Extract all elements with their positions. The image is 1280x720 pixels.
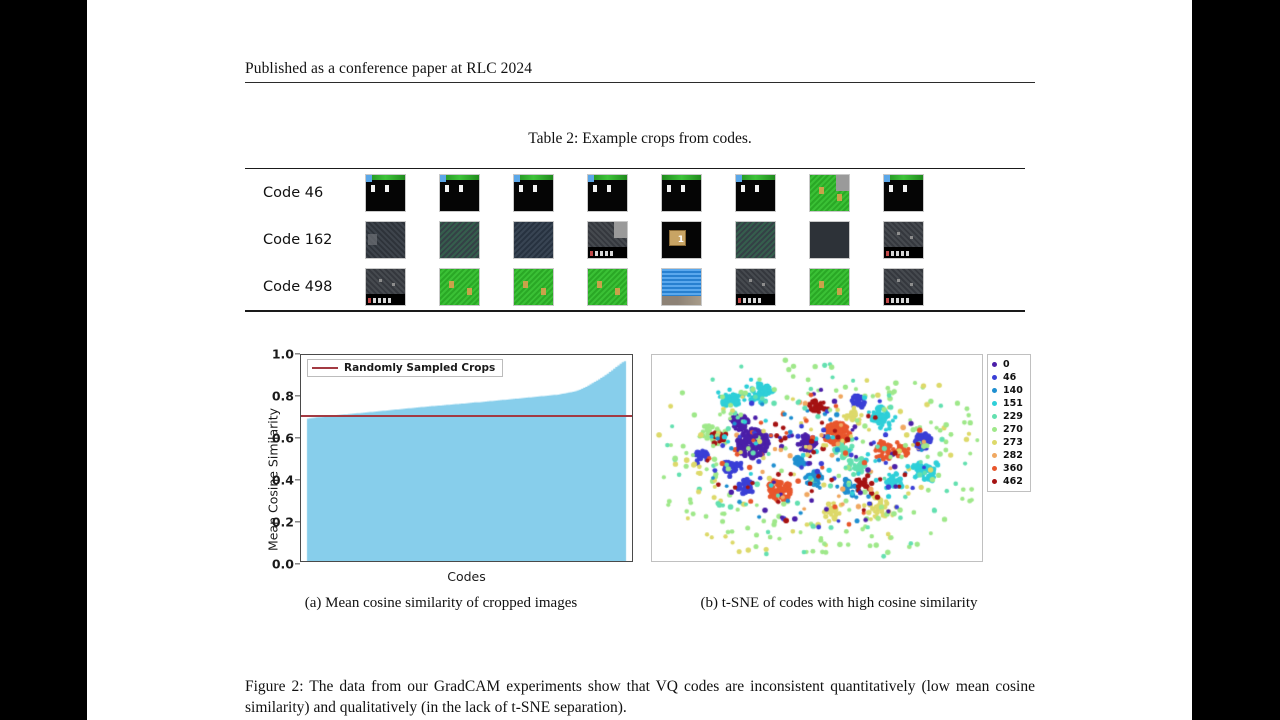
texture-dot xyxy=(379,279,382,282)
sprite-glyphs xyxy=(593,182,614,192)
legend-color-dot xyxy=(992,453,997,458)
hud-bar xyxy=(588,247,627,258)
crop-thumbnail xyxy=(439,174,480,212)
sprite-glyphs xyxy=(445,182,466,192)
texture-dot xyxy=(910,283,913,286)
y-axis-label: Mean Cosine Similarity xyxy=(266,379,281,579)
legend-color-dot xyxy=(992,388,997,393)
crop-thumbnail xyxy=(661,268,702,306)
hud-bar xyxy=(736,294,775,305)
legend-item-label: 462 xyxy=(1003,476,1023,487)
crop-thumbnail xyxy=(439,221,480,259)
legend-color-dot xyxy=(992,466,997,471)
hud-bar xyxy=(366,294,405,305)
texture-dot xyxy=(749,279,752,282)
crop-cells xyxy=(357,174,1025,212)
running-header: Published as a conference paper at RLC 2… xyxy=(245,60,1035,83)
crop-cells xyxy=(357,268,1025,306)
table-row: Code 46 xyxy=(245,169,1025,216)
sand-overlay xyxy=(662,296,701,305)
crop-thumbnail xyxy=(365,221,406,259)
hud-items xyxy=(886,251,909,256)
table-row-label: Code 498 xyxy=(245,279,357,295)
hud-items xyxy=(590,251,613,256)
crop-thumbnail xyxy=(883,174,924,212)
sprite-glyphs xyxy=(889,182,910,192)
legend-color-dot xyxy=(992,401,997,406)
sapling-sprite xyxy=(523,281,528,288)
sprite-glyphs xyxy=(667,182,688,192)
texture-dot xyxy=(392,283,395,286)
legend-color-dot xyxy=(992,427,997,432)
legend-item-label: 46 xyxy=(1003,372,1016,383)
crop-thumbnail xyxy=(587,268,628,306)
legend-label: Randomly Sampled Crops xyxy=(344,362,495,374)
legend-color-dot xyxy=(992,375,997,380)
legend-item: 140 xyxy=(992,384,1027,397)
y-tick-label: 1.0 xyxy=(272,347,294,362)
legend-item-label: 229 xyxy=(1003,411,1023,422)
sapling-sprite xyxy=(837,288,842,295)
crops-table: Code 46Code 162Code 498 xyxy=(245,168,1025,312)
texture-dot xyxy=(897,279,900,282)
tsne-scatter-canvas xyxy=(652,355,982,561)
area-chart-canvas xyxy=(301,355,632,561)
table-caption: Table 2: Example crops from codes. xyxy=(245,130,1035,148)
bluetop-overlay xyxy=(588,175,594,182)
sapling-sprite xyxy=(597,281,602,288)
legend-item: 270 xyxy=(992,423,1027,436)
figure-caption: Figure 2: The data from our GradCAM expe… xyxy=(245,676,1035,719)
subcaption-a: (a) Mean cosine similarity of cropped im… xyxy=(245,595,637,612)
hud-bar xyxy=(884,247,923,258)
legend-item-label: 273 xyxy=(1003,437,1023,448)
legend-item: 0 xyxy=(992,358,1027,371)
legend-item-label: 270 xyxy=(1003,424,1023,435)
sprite-glyphs xyxy=(371,182,392,192)
legend-item-label: 140 xyxy=(1003,385,1023,396)
legend-item: 282 xyxy=(992,449,1027,462)
crop-thumbnail xyxy=(809,221,850,259)
sprite-glyphs xyxy=(741,182,762,192)
crop-cells xyxy=(357,221,1025,259)
header-rule xyxy=(245,82,1035,83)
texture-dot xyxy=(910,236,913,239)
legend-color-dot xyxy=(992,440,997,445)
crop-thumbnail xyxy=(661,221,702,259)
crop-thumbnail xyxy=(513,221,554,259)
crop-thumbnail xyxy=(735,174,776,212)
crop-thumbnail xyxy=(883,268,924,306)
sapling-sprite xyxy=(541,288,546,295)
plot-area-a: Randomly Sampled Crops xyxy=(300,354,633,562)
figure-row: 0.00.20.40.60.81.0 Mean Cosine Similarit… xyxy=(245,352,1035,622)
subcaption-b: (b) t-SNE of codes with high cosine simi… xyxy=(643,595,1035,612)
texture-dot xyxy=(897,232,900,235)
legend-color-dot xyxy=(992,414,997,419)
hud-items xyxy=(886,298,909,303)
crop-thumbnail xyxy=(439,268,480,306)
paper-page: Published as a conference paper at RLC 2… xyxy=(87,0,1192,720)
bluetop-overlay xyxy=(440,175,446,182)
sapling-sprite xyxy=(819,281,824,288)
crop-thumbnail xyxy=(587,174,628,212)
texture-dot xyxy=(762,283,765,286)
crop-thumbnail xyxy=(365,174,406,212)
chart-legend-a: Randomly Sampled Crops xyxy=(307,359,503,377)
bluetop-overlay xyxy=(884,175,890,182)
figure-b-tsne: 046140151229270273282360462 (b) t-SNE of… xyxy=(643,352,1035,618)
stonepatch-overlay xyxy=(836,175,849,191)
sapling-sprite xyxy=(837,194,842,201)
y-tick-mark xyxy=(295,563,300,564)
crop-thumbnail xyxy=(513,268,554,306)
screenshot-stage: Published as a conference paper at RLC 2… xyxy=(0,0,1280,720)
sprite-glyphs xyxy=(519,182,540,192)
plot-area-b xyxy=(651,354,983,562)
sapling-sprite xyxy=(615,288,620,295)
hud-bar xyxy=(884,294,923,305)
x-axis-label: Codes xyxy=(300,569,633,584)
bluetop-overlay xyxy=(514,175,520,182)
legend-item: 46 xyxy=(992,371,1027,384)
legend-color-dot xyxy=(992,479,997,484)
legend-item-label: 360 xyxy=(1003,463,1023,474)
table-row: Code 498 xyxy=(245,263,1025,310)
crop-thumbnail xyxy=(735,268,776,306)
reference-line xyxy=(301,415,632,417)
table-row: Code 162 xyxy=(245,216,1025,263)
crop-thumbnail xyxy=(735,221,776,259)
legend-item-label: 0 xyxy=(1003,359,1010,370)
legend-item: 151 xyxy=(992,397,1027,410)
greentop-overlay xyxy=(662,175,701,180)
stonepatch-overlay xyxy=(614,222,627,238)
crop-thumbnail xyxy=(661,174,702,212)
legend-item-label: 151 xyxy=(1003,398,1023,409)
legend-item: 229 xyxy=(992,410,1027,423)
chart-legend-b: 046140151229270273282360462 xyxy=(987,354,1031,492)
table-row-label: Code 46 xyxy=(245,185,357,201)
sapling-sprite xyxy=(819,187,824,194)
chest-overlay xyxy=(669,230,686,246)
legend-item: 462 xyxy=(992,475,1027,488)
legend-color-dot xyxy=(992,362,997,367)
legend-line-swatch xyxy=(312,367,338,370)
bluetop-overlay xyxy=(736,175,742,182)
crop-thumbnail xyxy=(587,221,628,259)
hud-items xyxy=(368,298,391,303)
hud-items xyxy=(738,298,761,303)
table-rule-bottom xyxy=(245,310,1025,312)
lgray-overlay xyxy=(368,234,377,245)
legend-item-label: 282 xyxy=(1003,450,1023,461)
crop-thumbnail xyxy=(513,174,554,212)
crop-thumbnail xyxy=(809,268,850,306)
legend-item: 273 xyxy=(992,436,1027,449)
bluetop-overlay xyxy=(366,175,372,182)
crop-thumbnail xyxy=(883,221,924,259)
figure-a-mean-cosine-similarity: 0.00.20.40.60.81.0 Mean Cosine Similarit… xyxy=(245,352,637,618)
crop-thumbnail xyxy=(809,174,850,212)
legend-item: 360 xyxy=(992,462,1027,475)
sapling-sprite xyxy=(467,288,472,295)
crop-thumbnail xyxy=(365,268,406,306)
sapling-sprite xyxy=(449,281,454,288)
running-header-text: Published as a conference paper at RLC 2… xyxy=(245,60,1035,78)
table-row-label: Code 162 xyxy=(245,232,357,248)
